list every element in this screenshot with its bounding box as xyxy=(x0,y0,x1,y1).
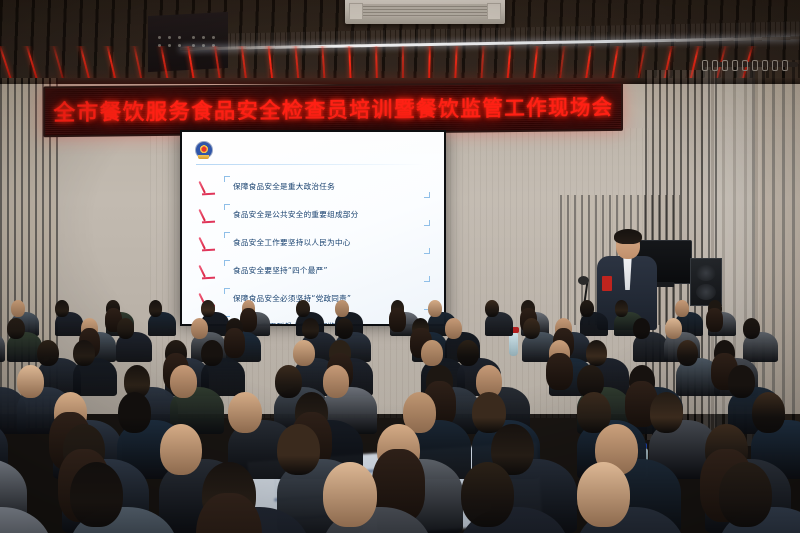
attendee-head xyxy=(191,318,208,339)
attendee-head xyxy=(677,340,699,366)
attendee-long-hair xyxy=(389,308,406,332)
attendee-head xyxy=(302,318,319,339)
attendee-head xyxy=(228,392,262,433)
attendee-head xyxy=(37,340,59,366)
attendee-head xyxy=(633,318,650,339)
attendee-head xyxy=(675,300,689,317)
attendee-head xyxy=(17,365,44,398)
audience-seating xyxy=(0,0,800,533)
attendee-head xyxy=(719,462,772,527)
conference-room-photo: 全市餐饮服务食品安全检查员培训暨餐饮监管工作现场会 保障食品安全是重大政治任务食… xyxy=(0,0,800,533)
attendee-head xyxy=(160,424,202,475)
attendee-head xyxy=(336,318,353,339)
attendee-head xyxy=(73,340,95,366)
attendee-head xyxy=(335,300,349,317)
attendee-head xyxy=(457,340,479,366)
attendee-head xyxy=(293,340,315,366)
attendee-head xyxy=(586,340,608,366)
attendee-head xyxy=(728,365,755,398)
attendee-head xyxy=(55,300,69,317)
attendee-head xyxy=(70,462,123,527)
attendee-head xyxy=(523,318,540,339)
attendee-head xyxy=(577,462,630,527)
attendee-head xyxy=(428,300,442,317)
attendee-head xyxy=(277,424,319,475)
attendee-head xyxy=(461,462,514,527)
attendee-head xyxy=(323,365,350,398)
attendee-head xyxy=(445,318,462,339)
attendee-head xyxy=(665,318,682,339)
attendee-head xyxy=(11,300,25,317)
attendee-head xyxy=(201,300,215,317)
attendee-long-hair xyxy=(546,353,573,391)
attendee-head xyxy=(650,392,684,433)
attendee-head xyxy=(752,392,786,433)
attendee-head xyxy=(580,300,594,317)
attendee-head xyxy=(149,300,163,317)
water-bottle xyxy=(509,332,518,356)
attendee-head xyxy=(615,300,629,317)
attendee-head xyxy=(485,300,499,317)
attendee-head xyxy=(296,300,310,317)
attendee-long-hair xyxy=(706,308,723,332)
attendee-long-hair xyxy=(224,328,245,358)
attendee-head xyxy=(170,365,197,398)
attendee-head xyxy=(743,318,760,339)
attendee-head xyxy=(118,392,152,433)
attendee-head xyxy=(275,365,302,398)
attendee-head xyxy=(201,340,223,366)
attendee-head xyxy=(7,318,24,339)
attendee xyxy=(0,332,5,362)
attendee-head xyxy=(117,318,134,339)
attendee-head xyxy=(421,340,443,366)
attendee-head xyxy=(323,462,376,527)
